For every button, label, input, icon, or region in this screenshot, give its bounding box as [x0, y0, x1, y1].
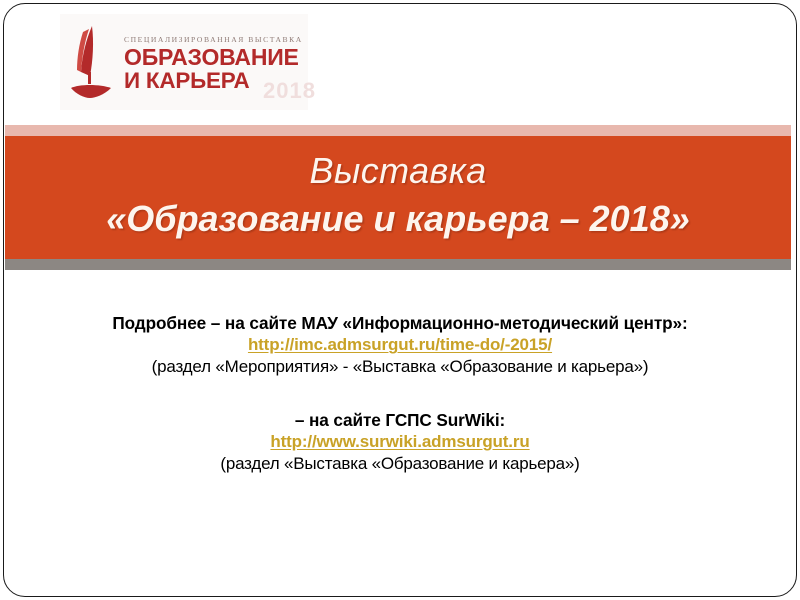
info-paragraph-imc: Подробнее – на сайте МАУ «Информационно-… — [40, 312, 760, 379]
banner-bottom-stripe — [5, 259, 791, 270]
presentation-slide: СПЕЦИАЛИЗИРОВАННАЯ ВЫСТАВКА ОБРАЗОВАНИЕ … — [0, 0, 800, 600]
imc-heading: Подробнее – на сайте МАУ «Информационно-… — [40, 312, 760, 334]
title-banner: Выставка «Образование и карьера – 2018» — [5, 125, 791, 270]
exhibition-logo: СПЕЦИАЛИЗИРОВАННАЯ ВЫСТАВКА ОБРАЗОВАНИЕ … — [60, 14, 308, 110]
imc-section-note: (раздел «Мероприятия» - «Выставка «Образ… — [40, 356, 760, 378]
slide-content: Подробнее – на сайте МАУ «Информационно-… — [40, 312, 760, 475]
slide-title-line-1: Выставка — [15, 150, 781, 192]
info-paragraph-surwiki: – на сайте ГСПС SurWiki: http://www.surw… — [40, 409, 760, 476]
surwiki-url-link[interactable]: http://www.surwiki.admsurgut.ru — [40, 431, 760, 453]
logo-wordmark: СПЕЦИАЛИЗИРОВАННАЯ ВЫСТАВКА ОБРАЗОВАНИЕ … — [124, 31, 303, 92]
banner-body: Выставка «Образование и карьера – 2018» — [5, 136, 791, 259]
banner-top-stripe — [5, 125, 791, 136]
surwiki-section-note: (раздел «Выставка «Образование и карьера… — [40, 453, 760, 475]
slide-title-line-2: «Образование и карьера – 2018» — [15, 198, 781, 240]
logo-line-1: ОБРАЗОВАНИЕ — [124, 46, 303, 69]
logo-kicker: СПЕЦИАЛИЗИРОВАННАЯ ВЫСТАВКА — [124, 35, 303, 44]
imc-url-link[interactable]: http://imc.admsurgut.ru/time-do/-2015/ — [40, 334, 760, 356]
surwiki-heading: – на сайте ГСПС SurWiki: — [40, 409, 760, 431]
sail-flag-icon — [66, 22, 120, 102]
logo-ghost-year: 2018 — [263, 78, 316, 104]
